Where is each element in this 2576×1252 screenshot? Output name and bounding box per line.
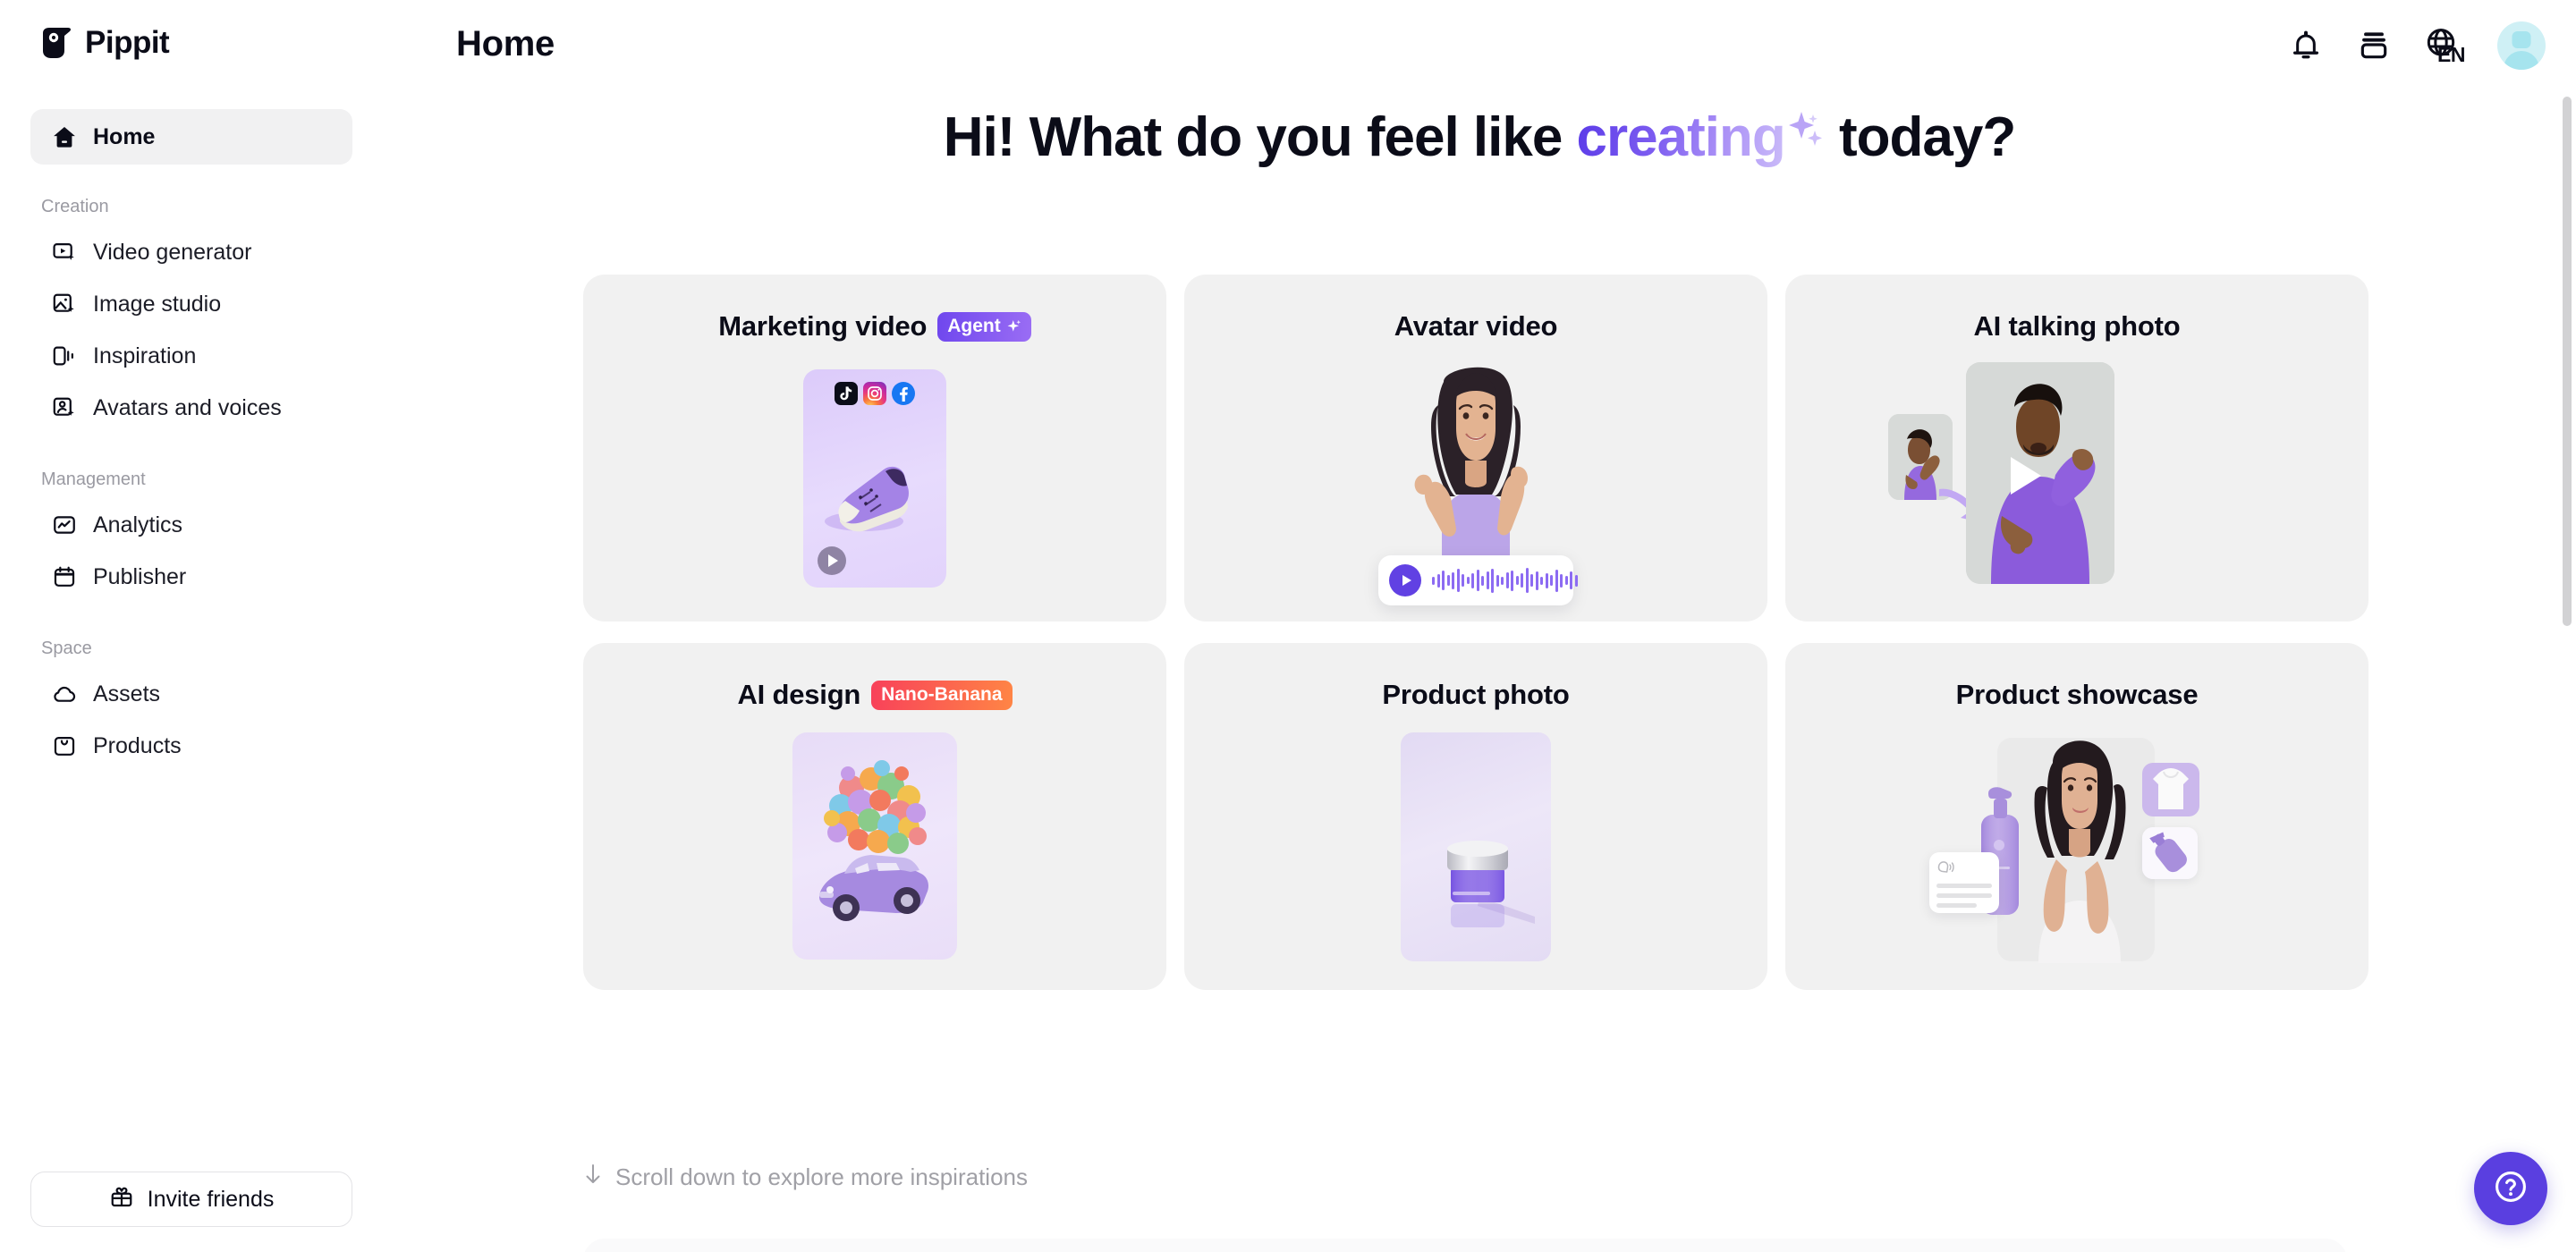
sidebar-item-analytics[interactable]: Analytics [30,499,352,551]
sidebar-item-label: Avatars and voices [93,395,282,421]
sparkle-icon [1006,318,1021,334]
hero: Hi! What do you feel like creating today… [383,106,2576,169]
card-marketing-video[interactable]: Marketing video Agent [583,275,1166,622]
arrow-down-icon [583,1163,603,1192]
card-ai-talking-photo[interactable]: AI talking photo [1785,275,2368,622]
sidebar-item-home[interactable]: Home [30,109,352,165]
sneaker-image [816,439,934,546]
play-triangle-icon [1402,575,1411,586]
card-art-product-photo [1184,725,1767,990]
page-title: Home [456,24,555,64]
sidebar-item-label: Video generator [93,240,251,266]
play-triangle-icon [828,554,838,567]
script-line [1936,893,1992,898]
play-button[interactable] [1389,564,1421,596]
card-title-row: Product photo [1184,679,1767,711]
card-art-ai-design [583,725,1166,990]
product-thumbnail-top [2142,763,2199,816]
card-title: Avatar video [1394,310,1558,343]
script-line [1936,903,1977,908]
balloon-car-image [792,732,957,960]
phone-preview [803,369,946,588]
poster-preview [792,732,957,960]
sidebar-nav: Home Creation Video generator [0,109,383,772]
header-actions: EN [2288,21,2546,70]
card-title: AI design [737,679,860,711]
gift-icon [109,1184,134,1215]
card-ai-design[interactable]: AI design Nano-Banana [583,643,1166,990]
video-sparkle-icon [52,240,77,265]
sidebar-item-label: Products [93,733,182,759]
language-selector[interactable]: EN [2424,26,2465,65]
speech-icon [1936,860,1954,875]
invite-friends-button[interactable]: Invite friends [30,1172,352,1227]
card-title: Product photo [1382,679,1569,711]
play-triangle-icon[interactable] [2011,457,2041,495]
sidebar-item-label: Home [93,124,155,150]
app-logo-text: Pippit [85,25,169,61]
card-art-product-showcase [1785,725,2368,990]
bag-icon [52,733,77,758]
stack-icon[interactable] [2356,28,2392,63]
calendar-icon [52,564,77,589]
app-root: Pippit Home Creation [0,0,2576,1252]
sidebar-section-space: Space [30,639,352,659]
scroll-hint: Scroll down to explore more inspirations [583,1163,1028,1192]
card-avatar-video[interactable]: Avatar video [1184,275,1767,622]
cloud-icon [52,681,77,706]
sidebar-item-label: Assets [93,681,160,707]
play-button[interactable] [818,546,846,575]
help-button[interactable] [2474,1152,2547,1225]
sidebar-item-assets[interactable]: Assets [30,668,352,720]
avatar-head [2512,31,2531,48]
card-product-showcase[interactable]: Product showcase [1785,643,2368,990]
instagram-icon [863,382,886,405]
waveform-icon [1432,567,1578,594]
image-sparkle-icon [52,292,77,317]
analytics-icon [52,512,77,537]
sidebar-item-label: Image studio [93,292,221,317]
audio-player[interactable] [1378,555,1573,605]
card-title: AI talking photo [1974,310,2181,343]
sidebar-item-label: Inspiration [93,343,196,369]
scroll-hint-label: Scroll down to explore more inspirations [615,1163,1028,1191]
sidebar-item-label: Analytics [93,512,182,538]
sidebar-item-video-generator[interactable]: Video generator [30,226,352,278]
card-title: Marketing video [718,310,927,343]
cosmetic-jar-image [1401,732,1551,961]
sidebar-item-label: Publisher [93,564,186,590]
sidebar-item-image-studio[interactable]: Image studio [30,278,352,330]
card-title-row: AI design Nano-Banana [583,679,1166,711]
tiktok-icon [835,382,858,405]
card-title-row: AI talking photo [1785,310,2368,343]
badge-label: Nano-Banana [881,684,1002,706]
feature-card-grid: Marketing video Agent [583,275,2368,990]
showcase-composition [1929,729,2224,963]
invite-friends-label: Invite friends [148,1187,275,1213]
card-title-row: Avatar video [1184,310,1767,343]
next-section-panel [583,1239,2347,1252]
pippit-logo-icon [41,26,73,60]
sidebar-item-avatars-and-voices[interactable]: Avatars and voices [30,382,352,434]
card-art-avatar-video [1184,357,1767,622]
badge-nano-banana: Nano-Banana [871,681,1012,710]
sidebar: Pippit Home Creation [0,0,383,1252]
badge-agent: Agent [937,312,1031,342]
inspiration-icon [52,343,77,368]
social-icons-row [835,382,915,405]
script-card [1929,852,1999,913]
card-product-photo[interactable]: Product photo [1184,643,1767,990]
card-title: Product showcase [1956,679,2199,711]
card-title-row: Product showcase [1785,679,2368,711]
sparkle-icon [1785,155,1825,156]
avatar-sparkle-icon [52,395,77,420]
bell-icon[interactable] [2288,28,2324,63]
sidebar-item-publisher[interactable]: Publisher [30,551,352,603]
app-logo[interactable]: Pippit [41,25,169,61]
sidebar-item-products[interactable]: Products [30,720,352,772]
hero-heading: Hi! What do you feel like creating today… [383,106,2576,169]
scrollbar-thumb[interactable] [2563,97,2572,626]
home-icon [52,124,77,149]
sidebar-item-inspiration[interactable]: Inspiration [30,330,352,382]
product-thumbnail-bottom [2142,827,2198,879]
question-mark-icon [2491,1167,2530,1211]
card-art-ai-talking-photo [1785,357,2368,622]
language-code: EN [2437,43,2465,67]
hero-highlight-word: creating [1577,106,1785,168]
avatar[interactable] [2497,21,2546,70]
avatar-body [2504,51,2539,70]
card-art-marketing-video [583,357,1166,622]
hero-text-before: Hi! What do you feel like [944,106,1577,168]
facebook-icon [892,382,915,405]
sidebar-section-creation: Creation [30,197,352,217]
hero-text-after: today? [1825,106,2015,168]
sidebar-section-management: Management [30,469,352,490]
card-title-row: Marketing video Agent [583,310,1166,343]
script-line [1936,884,1992,888]
product-scene-preview [1401,732,1551,961]
badge-label: Agent [947,316,1001,337]
